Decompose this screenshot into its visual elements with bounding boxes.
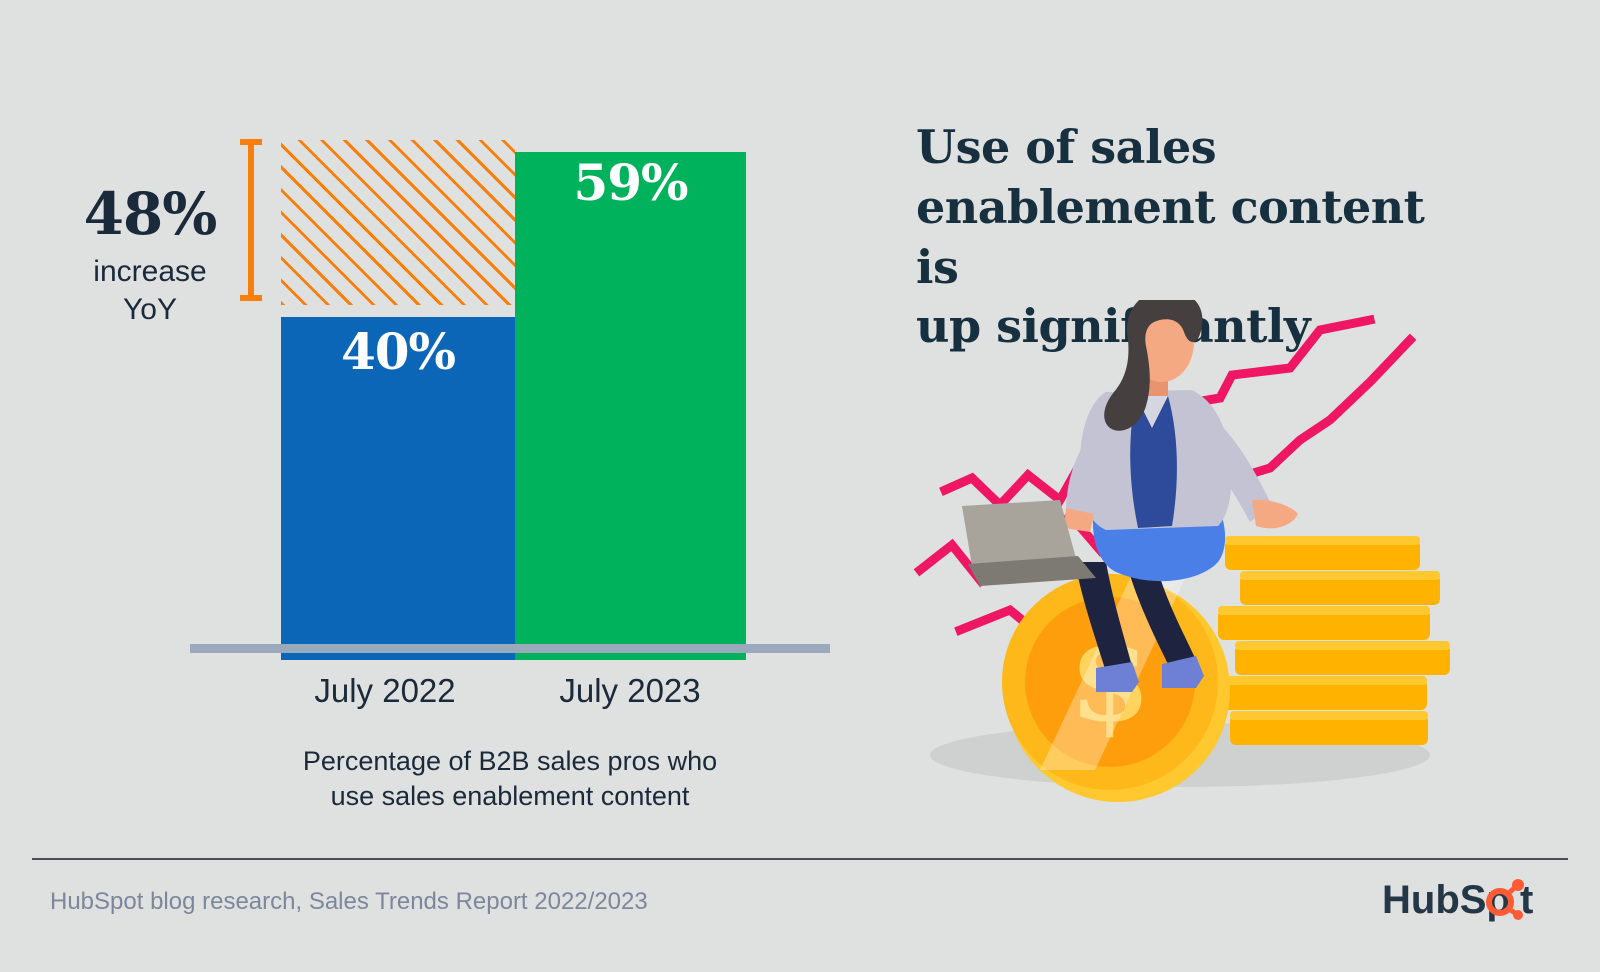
category-label-2023: July 2023 — [510, 672, 750, 710]
footer-divider — [32, 858, 1568, 860]
bar-value-label-2023: 59% — [515, 153, 746, 212]
chart-caption-line2: use sales enablement content — [190, 779, 830, 814]
footer-source-text: HubSpot blog research, Sales Trends Repo… — [50, 888, 648, 916]
chart-caption-line1: Percentage of B2B sales pros who — [190, 744, 830, 779]
hubspot-logo-text-b: t — [1520, 878, 1533, 922]
hand-right — [1252, 500, 1298, 529]
infographic-canvas: 48% increase YoY 40% 59% July 2022 July … — [0, 0, 1600, 972]
bar-plot: 40% 59% — [0, 0, 880, 660]
chart-area: 48% increase YoY 40% 59% July 2022 July … — [0, 0, 880, 860]
chart-baseline-axis — [190, 644, 830, 653]
bar-july-2023 — [515, 152, 746, 660]
illustration-woman-on-coins: $ — [900, 300, 1460, 830]
bar-increase-hatch — [281, 140, 515, 305]
bar-value-label-2022: 40% — [281, 322, 515, 381]
chart-caption: Percentage of B2B sales pros who use sal… — [190, 744, 830, 814]
coin-stack — [1218, 536, 1450, 745]
laptop-screen — [962, 500, 1076, 566]
hubspot-logo: HubSp t — [1382, 878, 1552, 922]
headline-line2: enablement content is — [916, 178, 1456, 298]
category-label-2022: July 2022 — [265, 672, 505, 710]
headline-line1: Use of sales — [916, 118, 1456, 178]
category-axis-labels: July 2022 July 2023 — [190, 672, 830, 722]
